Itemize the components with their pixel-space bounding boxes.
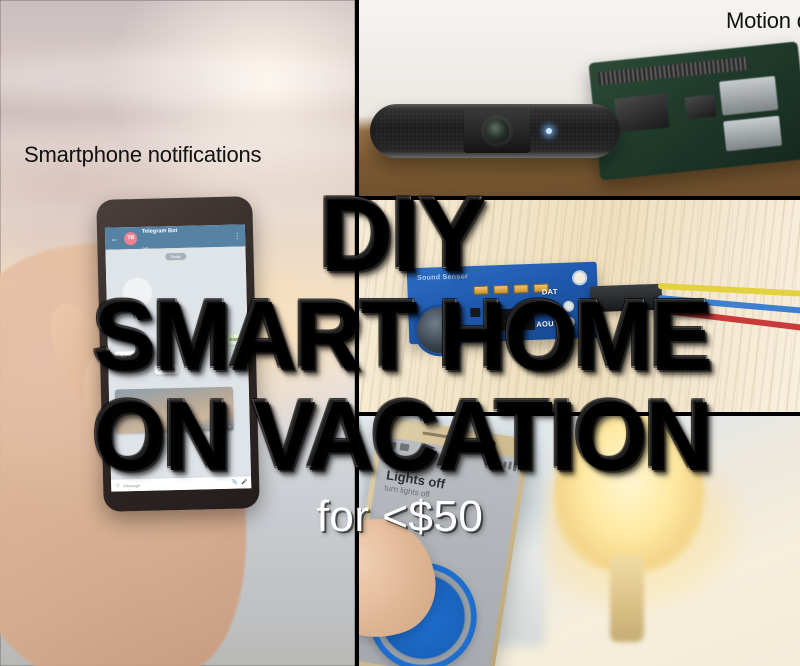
front-camera-icon <box>488 440 496 448</box>
microphone-icon[interactable]: 🎤 <box>241 479 247 485</box>
contact-name: Telegram Bot <box>142 228 177 235</box>
earpiece-speaker <box>422 431 464 441</box>
pin-label-dout: DOUT <box>536 303 559 313</box>
chat-message-list: Today /start Motion detected Snapshot 4:… <box>105 246 251 491</box>
soc-chip <box>614 93 669 132</box>
caption-smartphone-notifications: Smartphone notifications <box>24 144 261 166</box>
chat-date-stamp: Today <box>165 253 186 261</box>
status-bar-icons <box>387 441 410 451</box>
divider-vertical-main <box>355 0 359 666</box>
light-bulb-glow <box>554 416 704 572</box>
panel-smartphone-notifications: ← TB Telegram Bot bot ⋮ Today /start Mot… <box>0 0 355 666</box>
notification-icon <box>387 441 397 449</box>
smartphone-device: ← TB Telegram Bot bot ⋮ Today /start Mot… <box>96 196 260 512</box>
resistor <box>493 285 508 295</box>
transistor <box>470 308 480 317</box>
resistor <box>513 284 528 294</box>
poster-collage: ← TB Telegram Bot bot ⋮ Today /start Mot… <box>0 0 800 666</box>
chat-message: Motion detected <box>114 351 150 362</box>
usb-port <box>719 76 778 116</box>
more-vertical-icon[interactable]: ⋮ <box>233 231 240 240</box>
chat-message: /start <box>226 334 242 344</box>
chip <box>685 94 717 119</box>
avatar: TB <box>124 231 137 244</box>
status-led <box>546 128 552 134</box>
dupont-connector <box>590 284 663 312</box>
panel-motion-detection: Motion detection <box>358 0 800 196</box>
panel-sound-detection: Sound Sensor DAT DOUT AOUT Sound detecti… <box>358 199 800 413</box>
divider-horizontal-top <box>358 196 800 200</box>
light-bulb-stem <box>610 556 644 642</box>
chat-photo-attachment[interactable]: 4:45 PM <box>115 387 234 434</box>
solder-pad <box>563 301 574 312</box>
resistor <box>473 285 488 295</box>
board-silkscreen-label: Sound Sensor <box>417 273 468 282</box>
camera-lens-icon <box>485 119 509 143</box>
photo-timestamp: 4:45 PM <box>217 425 230 429</box>
phone-screen: ← TB Telegram Bot bot ⋮ Today /start Mot… <box>105 224 251 491</box>
pin-label-dat: DAT <box>542 287 558 297</box>
usb-webcam <box>370 104 620 158</box>
divider-horizontal-bottom <box>358 412 800 416</box>
cloud-band <box>0 53 355 105</box>
raspberry-pi-board <box>588 41 800 180</box>
arrow-left-icon[interactable]: ← <box>110 234 119 243</box>
chat-input-bar[interactable]: ☺ Message 📎 🎤 <box>111 475 251 491</box>
ethernet-port <box>723 116 782 152</box>
chat-message: Snapshot <box>154 364 178 374</box>
panel-remote-lights: Lights off turn lights off Remote lights <box>358 416 800 666</box>
mounting-hole <box>572 270 588 286</box>
notification-icon <box>400 443 410 451</box>
paperclip-icon[interactable]: 📎 <box>232 480 238 486</box>
emoji-icon[interactable]: ☺ <box>115 482 120 488</box>
status-bar-signal <box>498 459 517 472</box>
webcam-lens-plate <box>464 109 530 153</box>
solder-pad <box>564 317 575 328</box>
sound-sensor-module: Sound Sensor DAT DOUT AOUT <box>407 262 600 345</box>
comparator-ic <box>494 308 535 331</box>
caption-motion-detection: Motion detection <box>726 10 800 32</box>
message-input-placeholder[interactable]: Message <box>123 480 229 488</box>
pin-label-aout: AOUT <box>536 319 559 329</box>
